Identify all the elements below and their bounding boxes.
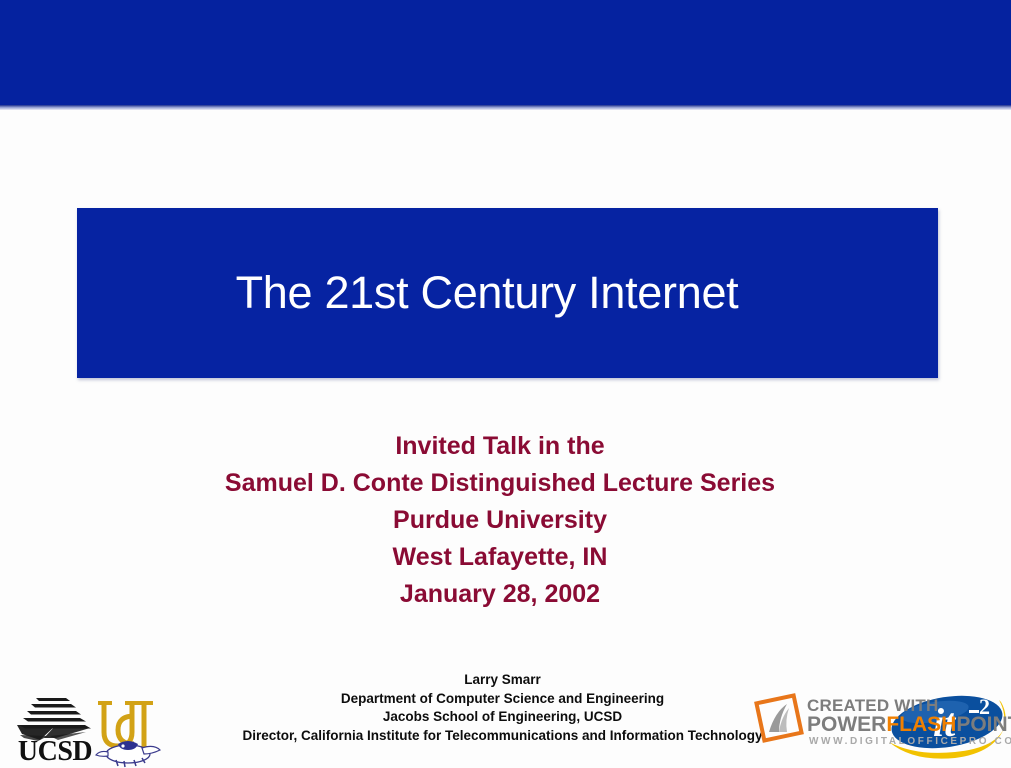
watermark-line-url: WWW.DIGITALOFFICEPRO.COM xyxy=(809,736,1011,747)
subtitle-line-4: West Lafayette, IN xyxy=(0,539,1000,576)
ucsd-logo: UCSD UC San Diego trident wave mark xyxy=(16,694,94,766)
page-title: The 21st Century Internet xyxy=(77,208,897,378)
watermark-power: POWER xyxy=(807,713,886,736)
uci-logo: UC Irvine gold UCI monogram with Peter t… xyxy=(92,692,166,768)
powerflashpoint-watermark: it 2 Cal-(IT)2 California Institute for … xyxy=(753,686,1011,762)
ucsd-wordmark: UCSD xyxy=(16,738,94,766)
subtitle-line-1: Invited Talk in the xyxy=(0,428,1000,465)
presentation-slide: The 21st Century Internet Invited Talk i… xyxy=(0,0,1011,768)
slide-top-banner xyxy=(0,0,1011,108)
subtitle-line-5: January 28, 2002 xyxy=(0,576,1000,613)
badge-alt: digitalofficepro orange diamond logo xyxy=(805,692,806,693)
watermark-flash: FLASH xyxy=(886,713,956,736)
digitalofficepro-badge-icon: digitalofficepro orange diamond logo xyxy=(753,692,805,744)
slide-top-banner-edge xyxy=(0,105,1011,110)
anteater-mascot-icon xyxy=(96,741,160,767)
uci-monogram-icon xyxy=(92,692,166,768)
watermark-point-free: POINT FREE xyxy=(956,713,1011,736)
slide-subtitle-block: Invited Talk in the Samuel D. Conte Dist… xyxy=(0,428,1000,613)
subtitle-line-2: Samuel D. Conte Distinguished Lecture Se… xyxy=(0,465,1000,502)
ucsd-trident-icon xyxy=(16,694,94,742)
subtitle-line-3: Purdue University xyxy=(0,502,1000,539)
slide-title-box: The 21st Century Internet xyxy=(77,208,938,378)
watermark-line-product: POWERFLASHPOINT FREE xyxy=(807,713,1011,737)
